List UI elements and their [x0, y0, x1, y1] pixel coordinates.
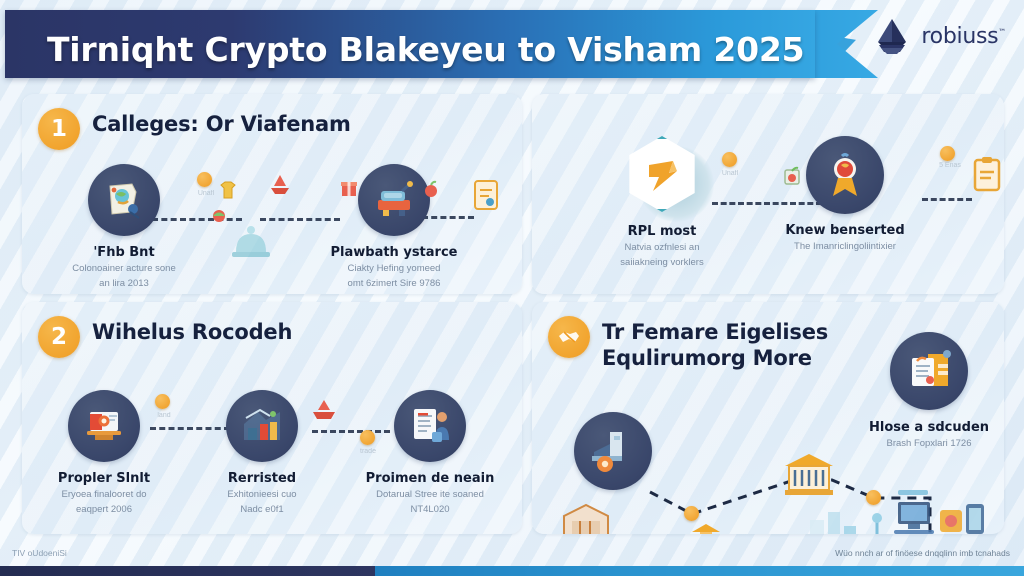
node-label: RPL most: [582, 224, 742, 239]
card-heading-2: Wihelus Rocodeh: [92, 320, 292, 346]
node-sub-line1: Brash Fopxlari 1726: [854, 437, 1004, 450]
node-item[interactable]: Knew benserted The Imanriclingoliintixie…: [770, 136, 920, 253]
logo-wordmark: robiuss™: [921, 24, 1006, 49]
footer-left-text: TIV oUdoeniSi: [12, 548, 67, 558]
industry-city-icon: [226, 390, 298, 462]
logo-text-label: robiuss: [921, 24, 998, 49]
node-label: Knew benserted: [770, 223, 920, 238]
mini-label: 5 Enas: [928, 162, 972, 170]
node-label: Propler Slnlt: [44, 471, 164, 486]
node-item[interactable]: 'Fhb Bnt Colonoainer acture sone an lira…: [64, 164, 184, 291]
card-rpl-overview[interactable]: RPL most Natvia ozfnlesi an saiiakneing …: [532, 94, 1004, 294]
laptop-camera-icon: [68, 390, 140, 462]
node-sub-line1: Eryoea finalooret do: [44, 488, 164, 501]
document-person-icon: [394, 390, 466, 462]
node-label: Plawbath ystarce: [324, 245, 464, 260]
node-sub-line1: The Imanriclingoliintixier: [770, 240, 920, 253]
node-sub-line1: Colonoainer acture sone: [64, 262, 184, 275]
factory-gear-icon: [574, 412, 652, 490]
node-item[interactable]: Hlose a sdcuden Brash Fopxlari 1726: [854, 332, 1004, 450]
header: Tirniqht Crypto Blakeyeu to Visham 2025 …: [0, 0, 1024, 90]
warehouse-icon: [560, 502, 612, 534]
card-femare-eigelises[interactable]: Tr Femare Eigelises Equlirumorg More: [532, 302, 1004, 534]
mini-dot-icon: [940, 146, 955, 161]
boat-icon: [267, 172, 293, 201]
mini-dot-icon: [197, 172, 212, 187]
node-label: Proimen de neain: [360, 471, 500, 486]
map-document-icon: [88, 164, 160, 236]
bottom-bar-dark-segment: [0, 566, 375, 576]
pyramid-logo-icon: [870, 14, 914, 58]
folder-files-icon: [890, 332, 968, 410]
node-sub-line1: Exhitonieesi cuo: [202, 488, 322, 501]
node-item[interactable]: Proimen de neain Dotarual Stree ite soan…: [360, 390, 500, 517]
footer-right-text: Wüo nnch ar of finöese dnqqlinn imb tcna…: [835, 548, 1010, 558]
bell-icon: [222, 212, 280, 273]
node-label: Hlose a sdcuden: [854, 420, 1004, 435]
node-sub-line2: saiiakneing vorklers: [582, 256, 742, 269]
node-sub-line1: Natvia ozfnlesi an: [582, 241, 742, 254]
clipboard-icon: [972, 156, 1002, 197]
node-sub-line2: eaqpert 2006: [44, 503, 164, 516]
node-label: 'Fhb Bnt: [64, 245, 184, 260]
card-challenges[interactable]: 1 Calleges: Or Viafenam: [22, 94, 522, 294]
node-item[interactable]: RPL most Natvia ozfnlesi an saiiakneing …: [582, 136, 742, 270]
boat-icon: [310, 398, 338, 425]
apple-icon: [420, 178, 442, 203]
bottom-bar-blue-segment: [375, 566, 1024, 576]
node-item[interactable]: Rerristed Exhitonieesi cuo Nadc e0f1: [202, 390, 322, 517]
card-wihelus-rocodeh[interactable]: 2 Wihelus Rocodeh: [22, 302, 522, 534]
node-sub-line2: an lira 2013: [64, 277, 184, 290]
bottom-bar: [0, 566, 1024, 576]
node-item[interactable]: Propler Slnlt Eryoea finalooret do eaqpe…: [44, 390, 164, 517]
award-medal-icon: [806, 136, 884, 214]
node-item[interactable]: [574, 412, 652, 490]
hexagon-badge-icon: [624, 136, 700, 212]
header-ribbon: Tirniqht Crypto Blakeyeu to Visham 2025: [5, 10, 815, 78]
connector-dash: [922, 198, 972, 201]
node-sub-line1: Dotarual Stree ite soaned: [360, 488, 500, 501]
mini-label: land: [140, 412, 188, 420]
document-pen-icon: [470, 178, 504, 217]
node-sub-line1: Ciakty Hefing yomeed: [324, 262, 464, 275]
node-item[interactable]: Plawbath ystarce Ciakty Hefing yomeed om…: [324, 164, 464, 291]
trademark-symbol: ™: [998, 27, 1006, 36]
node-sub-line2: NT4L020: [360, 503, 500, 516]
node-sub-line2: Nadc e0f1: [202, 503, 322, 516]
node-sub-line2: omt 6zimert Sire 9786: [324, 277, 464, 290]
path-node-dot: [684, 506, 699, 521]
shirt-icon: [217, 179, 239, 204]
infographic-page: Tirniqht Crypto Blakeyeu to Visham 2025 …: [0, 0, 1024, 576]
brand-logo[interactable]: robiuss™: [870, 14, 1006, 58]
mini-dot-icon: [722, 152, 737, 167]
mini-label: Unafl: [706, 170, 754, 178]
card-badge-1: 1: [38, 108, 80, 150]
card-grid: 1 Calleges: Or Viafenam: [22, 94, 1002, 534]
page-title: Tirniqht Crypto Blakeyeu to Visham 2025: [47, 30, 804, 69]
mini-dot-icon: [155, 394, 170, 409]
card-heading-1: Calleges: Or Viafenam: [92, 112, 351, 138]
node-label: Rerristed: [202, 471, 322, 486]
card-badge-2: 2: [38, 316, 80, 358]
tech-cluster-icon: [802, 480, 992, 534]
pagoda-icon: [688, 520, 724, 534]
